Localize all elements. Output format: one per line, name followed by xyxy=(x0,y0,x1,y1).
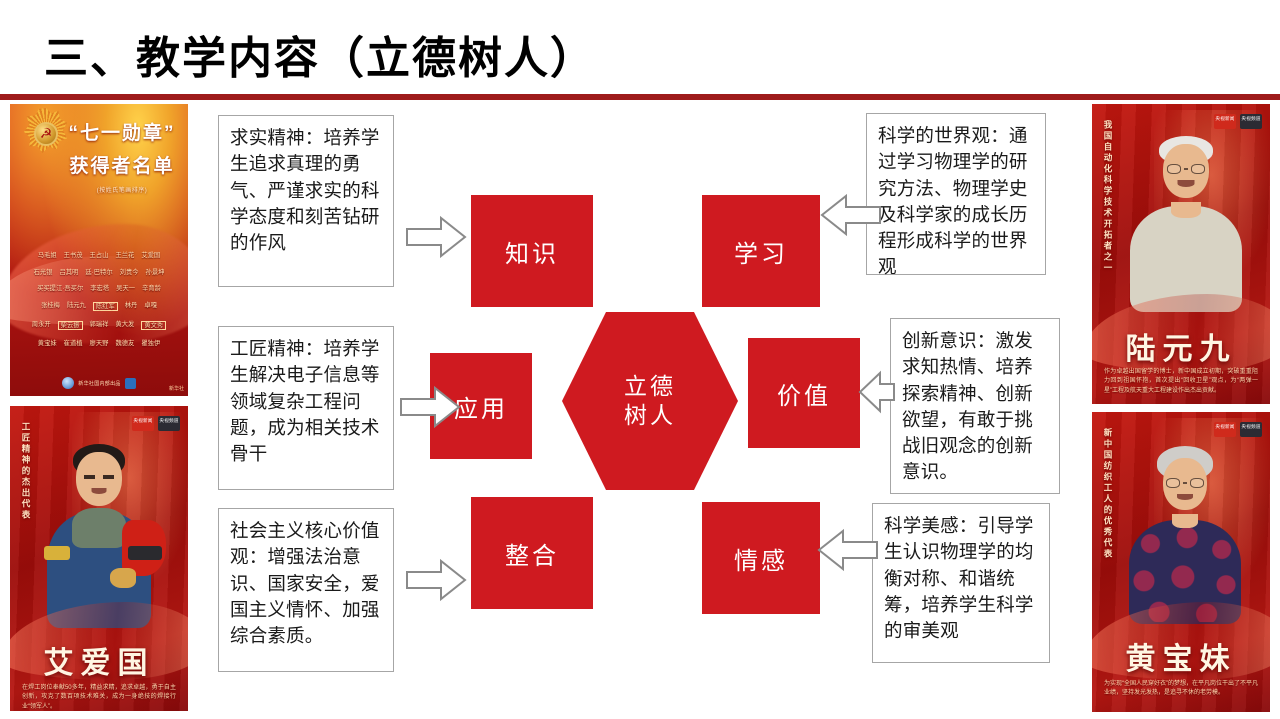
poster-person-description: 作为卓越出国留学的博士，新中国成立初期，突破重重阻力回到祖国怀抱，首次提出“回收… xyxy=(1104,368,1258,396)
arrow-craftsman-to-application xyxy=(399,385,461,429)
medal-recipient-name: 崔道植 xyxy=(64,340,83,347)
slide-root: 三、教学内容（立德树人） “七一勋章” 获得者名单 (按姓氏笔画排序) 马毛姐王… xyxy=(0,0,1280,719)
arrow-qiushi-to-knowledge xyxy=(405,215,467,259)
arrow-worldview-to-study xyxy=(820,193,882,237)
medal-recipient-name: 黄宝妹 xyxy=(38,340,57,347)
poster-person-description: 在焊工岗位奉献50多年，精益求精，追求卓越，勇于自主创新，攻克了数百项技术难关，… xyxy=(22,684,176,711)
poster-corner-credit: 新华社 xyxy=(169,385,184,392)
medal-recipient-name: 王兰花 xyxy=(115,252,134,259)
cctv-channel-logo-icon: 央视频道 xyxy=(1240,114,1262,129)
medal-recipient-name: 刘贵今 xyxy=(120,269,139,276)
medal-name-row: 周永开柴云振郭瑞祥黄大发黄文秀 xyxy=(16,321,182,330)
medal-recipient-name: 王书茂 xyxy=(64,252,83,259)
cctv-news-logo-icon: 央视新闻 xyxy=(1214,422,1236,437)
medal-recipient-name: 周永开 xyxy=(32,321,51,330)
poster-footer: 新华社国内部出品 xyxy=(10,377,188,389)
callout-scientific-worldview: 科学的世界观：通过学习物理学的研究方法、物理学史及科学家的成长历程形成科学的世界… xyxy=(866,113,1046,275)
medal-recipient-name-list: 马毛姐王书茂王占山王兰花艾爱国石光银吕其明廷·巴特尔刘贵今孙景坤买买提江·吾买尔… xyxy=(16,252,182,356)
arrow-innovation-to-value xyxy=(858,370,896,414)
title-divider xyxy=(0,94,1280,100)
poster-person-name: 艾爱国 xyxy=(10,638,188,682)
callout-qiushi-spirit: 求实精神：培养学生追求真理的勇气、严谨求实的科学态度和刻苦钻研的作风 xyxy=(218,115,394,287)
poster-ai-aiguo: 工匠精神的杰出代表 央视新闻 央视频道 艾爱国 在焊工岗位奉献50多年，精益求精… xyxy=(10,406,188,711)
medal-recipient-name: 柴云振 xyxy=(58,321,83,330)
portrait-lu-yuanjiu xyxy=(1102,134,1270,304)
medal-recipient-name: 石光银 xyxy=(34,269,53,276)
poster-logo-group: 央视新闻 央视频道 xyxy=(132,416,180,431)
callout-core-values: 社会主义核心价值观：增强法治意识、国家安全，爱国主义情怀、加强综合素质。 xyxy=(218,508,394,672)
medal-recipient-name: 魏德友 xyxy=(115,340,134,347)
medal-name-row: 张桂梅陆元九陈红军林丹卓嘎 xyxy=(16,302,182,311)
medal-name-row: 石光银吕其明廷·巴特尔刘贵今孙景坤 xyxy=(16,269,182,276)
medal-recipient-name: 买买提江·吾买尔 xyxy=(37,285,83,292)
poster-logo-group: 央视新闻 央视频道 xyxy=(1214,114,1262,129)
medal-recipient-name: 黄文秀 xyxy=(141,321,166,330)
medal-recipient-name: 马毛姐 xyxy=(38,252,57,259)
hexagon-label-line2: 树人 xyxy=(624,401,676,430)
medal-name-row: 马毛姐王书茂王占山王兰花艾爱国 xyxy=(16,252,182,259)
medal-recipient-name: 黄大发 xyxy=(115,321,134,330)
medal-recipient-name: 李宏塔 xyxy=(90,285,109,292)
cctv-channel-logo-icon: 央视频道 xyxy=(1240,422,1262,437)
medal-poster-subtitle: (按姓氏笔画排序) xyxy=(62,185,182,194)
diagram-node-knowledge: 知识 xyxy=(471,195,593,307)
xinhua-logo-icon xyxy=(62,377,74,389)
poster-person-name: 黄宝妹 xyxy=(1092,634,1270,678)
medal-poster-title-line2: 获得者名单 xyxy=(62,151,182,178)
medal-recipient-name: 孙景坤 xyxy=(146,269,165,276)
medal-name-row: 黄宝妹崔道植廖天野魏德友瞿独伊 xyxy=(16,340,182,347)
poster-lu-yuanjiu: 我国自动化科学技术开拓者之一 央视新闻 央视频道 陆元九 作为卓越出国留学的博士… xyxy=(1092,104,1270,404)
cctv-news-logo-icon: 央视新闻 xyxy=(1214,114,1236,129)
medal-recipient-name: 吴天一 xyxy=(116,285,135,292)
cctv-news-logo-icon: 央视新闻 xyxy=(132,416,154,431)
poster-medal-list: “七一勋章” 获得者名单 (按姓氏笔画排序) 马毛姐王书茂王占山王兰花艾爱国石光… xyxy=(10,104,188,396)
hexagon-label-line1: 立德 xyxy=(624,372,676,401)
medal-recipient-name: 廖天野 xyxy=(90,340,109,347)
diagram-node-value: 价值 xyxy=(748,338,860,448)
portrait-ai-aiguo xyxy=(10,442,188,612)
medal-recipient-name: 艾爱国 xyxy=(141,252,160,259)
arrow-values-to-integration xyxy=(405,558,467,602)
diagram-node-emotion: 情感 xyxy=(702,502,820,614)
medal-recipient-name: 辛育龄 xyxy=(142,285,161,292)
medal-recipient-name: 陈红军 xyxy=(93,302,118,311)
diagram-node-study: 学习 xyxy=(702,195,820,307)
medal-poster-heading: “七一勋章” 获得者名单 (按姓氏笔画排序) xyxy=(62,118,182,194)
medal-recipient-name: 廷·巴特尔 xyxy=(85,269,112,276)
medal-recipient-name: 王占山 xyxy=(90,252,109,259)
poster-person-name: 陆元九 xyxy=(1092,324,1270,368)
poster-huang-baomei: 新中国纺织工人的优秀代表 央视新闻 央视频道 黄宝妹 为实现“全国人民穿好衣”的… xyxy=(1092,412,1270,712)
poster-footer-badge-icon xyxy=(125,378,136,389)
cctv-channel-logo-icon: 央视频道 xyxy=(158,416,180,431)
medal-recipient-name: 卓嘎 xyxy=(144,302,157,311)
poster-person-description: 为实现“全国人民穿好衣”的梦想，在平凡岗位干出了不平凡业绩，坚持发光发热，是追寻… xyxy=(1104,680,1258,699)
poster-footer-text: 新华社国内部出品 xyxy=(78,380,120,387)
medal-name-row: 买买提江·吾买尔李宏塔吴天一辛育龄 xyxy=(16,285,182,292)
medal-poster-title-line1: “七一勋章” xyxy=(62,118,182,145)
poster-logo-group: 央视新闻 央视频道 xyxy=(1214,422,1262,437)
callout-scientific-aesthetics: 科学美感：引导学生认识物理学的均衡对称、和谐统筹，培养学生科学的审美观 xyxy=(872,503,1050,663)
medal-recipient-name: 吕其明 xyxy=(59,269,78,276)
medal-recipient-name: 张桂梅 xyxy=(41,302,60,311)
portrait-huang-baomei xyxy=(1100,446,1270,614)
medal-recipient-name: 瞿独伊 xyxy=(141,340,160,347)
page-title: 三、教学内容（立德树人） xyxy=(44,22,596,86)
callout-innovation-awareness: 创新意识：激发求知热情、培养探索精神、创新欲望，有敢于挑战旧观念的创新意识。 xyxy=(890,318,1060,494)
diagram-center-hexagon: 立德 树人 xyxy=(562,312,738,490)
diagram-node-integration: 整合 xyxy=(471,497,593,609)
callout-craftsman-spirit: 工匠精神：培养学生解决电子信息等领域复杂工程问题，成为相关技术骨干 xyxy=(218,326,394,490)
medal-recipient-name: 林丹 xyxy=(125,302,138,311)
medal-recipient-name: 郭瑞祥 xyxy=(90,321,109,330)
medal-recipient-name: 陆元九 xyxy=(67,302,86,311)
arrow-aesthetics-to-emotion xyxy=(817,528,879,572)
